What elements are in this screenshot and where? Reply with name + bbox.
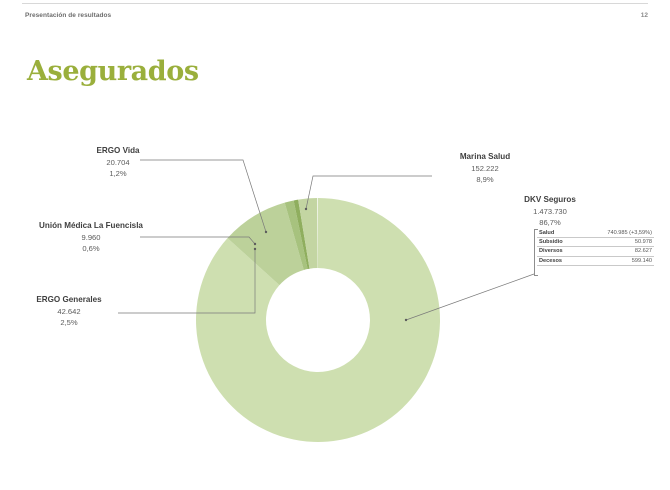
callout-union-medica: Unión Médica La Fuencisla 9.960 0,6% (8, 220, 174, 255)
leader-line-dots (254, 208, 407, 321)
callout-ergo-generales: ERGO Generales 42.642 2,5% (14, 294, 124, 329)
callout-union-medica-name: Unión Médica La Fuencisla (8, 220, 174, 232)
callout-dkv-seguros-pct: 86,7% (480, 217, 620, 229)
dkv-row-value-salud: 740.985 (+3,59%) (579, 229, 654, 238)
callout-marina-salud-value: 152.222 (420, 163, 550, 175)
dkv-row-label-diversos: Diversos (537, 247, 579, 256)
leader-dot-union-medica (254, 243, 256, 245)
donut-chart: ERGO Vida 20.704 1,2% Unión Médica La Fu… (0, 0, 670, 490)
callout-ergo-generales-value: 42.642 (14, 306, 124, 318)
callout-union-medica-pct: 0,6% (8, 243, 174, 255)
leader-dot-ergo-vida (265, 231, 267, 233)
callout-ergo-generales-name: ERGO Generales (14, 294, 124, 306)
dkv-detail-table: Salud 740.985 (+3,59%) Subsidio 50.978 D… (537, 229, 654, 266)
callout-ergo-generales-pct: 2,5% (14, 317, 124, 329)
callout-ergo-vida-pct: 1,2% (62, 168, 174, 180)
table-row: Salud 740.985 (+3,59%) (537, 229, 654, 238)
callout-union-medica-value: 9.960 (8, 232, 174, 244)
leader-line-ergo-generales (118, 249, 255, 313)
callout-dkv-seguros: DKV Seguros 1.473.730 86,7% (480, 194, 620, 229)
table-row: Diversos 82.627 (537, 247, 654, 256)
table-row: Subsidio 50.978 (537, 238, 654, 247)
dkv-row-label-subsidio: Subsidio (537, 238, 579, 247)
callout-dkv-seguros-value: 1.473.730 (480, 206, 620, 218)
dkv-detail-table-body: Salud 740.985 (+3,59%) Subsidio 50.978 D… (537, 229, 654, 265)
callout-dkv-seguros-name: DKV Seguros (480, 194, 620, 206)
callout-marina-salud-name: Marina Salud (420, 151, 550, 163)
leader-line-marina-salud (306, 176, 432, 209)
dkv-row-label-decesos: Decesos (537, 256, 579, 265)
dkv-row-value-subsidio: 50.978 (579, 238, 654, 247)
callout-ergo-vida-value: 20.704 (62, 157, 174, 169)
callout-marina-salud: Marina Salud 152.222 8,9% (420, 151, 550, 186)
callout-ergo-vida-name: ERGO Vida (62, 145, 174, 157)
dkv-row-value-diversos: 82.627 (579, 247, 654, 256)
leader-dot-ergo-generales (254, 248, 256, 250)
leader-dot-marina-salud (305, 208, 307, 210)
leader-line-dkv-seguros (406, 274, 534, 320)
dkv-row-label-salud: Salud (537, 229, 579, 238)
dkv-row-value-decesos: 599.140 (579, 256, 654, 265)
callout-ergo-vida: ERGO Vida 20.704 1,2% (62, 145, 174, 180)
callout-marina-salud-pct: 8,9% (420, 174, 550, 186)
table-row: Decesos 599.140 (537, 256, 654, 265)
leader-dot-dkv-seguros (405, 319, 407, 321)
